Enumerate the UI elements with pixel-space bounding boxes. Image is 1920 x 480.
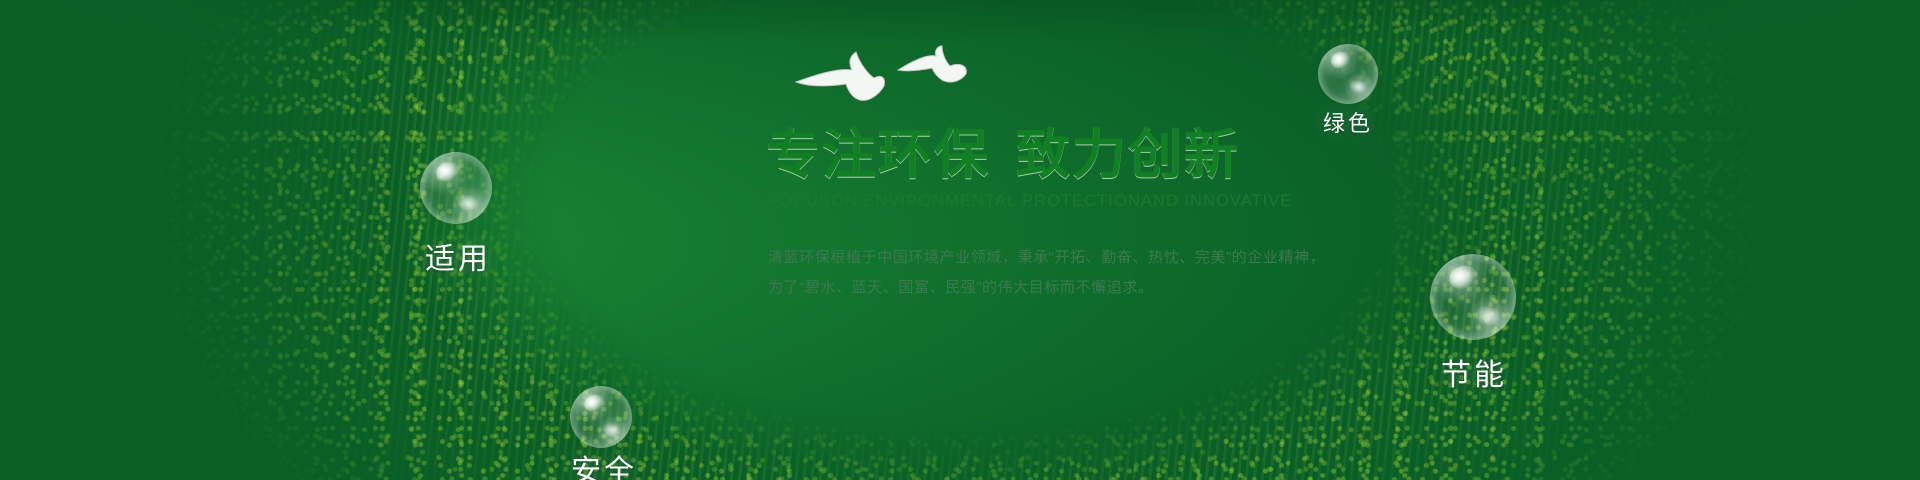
banner-copy-block: 专注环保致力创新 FOCUSON ENVIPONMENTAL PROTECTIO… xyxy=(766,128,1386,303)
bubble-icon xyxy=(570,386,632,448)
description-line-1: 清蓝环保根植于中国环境产业领域，秉承“开拓、勤奋、热忱、完美”的企业精神， xyxy=(768,243,1386,273)
feature-bubble-jieneng: 节能 xyxy=(1404,254,1544,384)
feature-bubble-shiyong: 适用 xyxy=(398,152,518,282)
bubble-icon xyxy=(420,152,492,224)
subtitle-english: FOCUSON ENVIPONMENTAL PROTECTIONAND INNO… xyxy=(768,192,1386,211)
headline-part-2: 致力创新 xyxy=(1016,125,1240,185)
bubble-icon xyxy=(1318,44,1378,104)
feature-bubble-anquan: 安全 xyxy=(544,386,664,480)
feature-bubble-label: 安全 xyxy=(571,446,637,480)
eco-promotional-banner: 适用 安全 绿色 节能 专注环保致力创新 FOCUSON ENVIPONMENT… xyxy=(0,0,1920,480)
bubble-icon xyxy=(1430,254,1516,340)
description-paragraph: 清蓝环保根植于中国环境产业领域，秉承“开拓、勤奋、热忱、完美”的企业精神， 为了… xyxy=(768,243,1386,303)
headline-part-1: 专注环保 xyxy=(766,125,990,185)
feature-bubble-label: 适用 xyxy=(425,234,491,278)
feature-bubble-label: 节能 xyxy=(1441,350,1507,394)
description-line-2: 为了“碧水、蓝天、国富、民强”的伟大目标而不懈追求。 xyxy=(768,273,1386,303)
page-title: 专注环保致力创新 xyxy=(766,128,1386,182)
